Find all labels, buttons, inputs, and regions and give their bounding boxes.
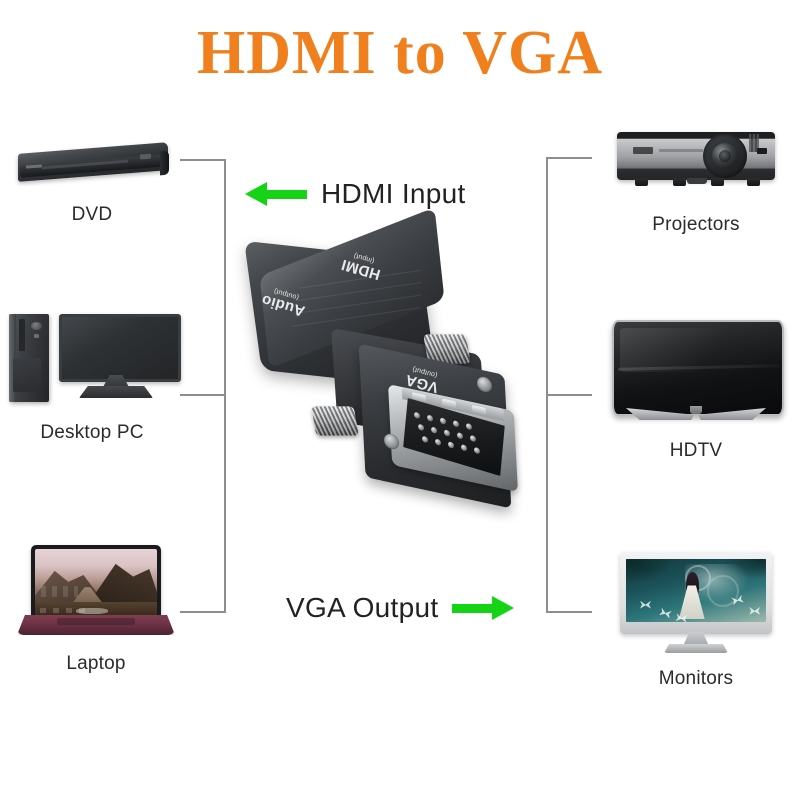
dvd-player-icon [12, 140, 172, 186]
thumbscrew-lower-icon [311, 406, 359, 436]
laptop-icon [11, 545, 181, 639]
source-label-laptop: Laptop [10, 653, 182, 675]
hdmi-input-label: HDMI Input [321, 178, 466, 210]
source-item-laptop[interactable]: Laptop [10, 545, 182, 675]
display-item-monitors[interactable]: Monitors [618, 552, 774, 690]
hdtv-icon [610, 318, 782, 426]
source-label-dvd: DVD [8, 204, 176, 226]
source-item-desktop-pc[interactable]: Desktop PC [5, 310, 179, 444]
page-title: HDMI to VGA [0, 22, 800, 84]
monitor-icon [620, 552, 772, 656]
vga-output-label: VGA Output [286, 592, 438, 624]
infographic-canvas: HDMI to VGA DVD Desktop PC [0, 0, 800, 800]
vga-output-flow: VGA Output [286, 592, 514, 624]
display-label-hdtv: HDTV [608, 440, 784, 462]
display-label-projectors: Projectors [608, 214, 784, 236]
display-label-monitors: Monitors [618, 668, 774, 690]
source-label-desktop-pc: Desktop PC [5, 422, 179, 444]
projector-icon [611, 128, 781, 194]
arrow-left-icon [245, 182, 307, 206]
hdmi-to-vga-adapter[interactable]: HDMI (input) Audio (output) VGA (output) [250, 238, 540, 528]
desktop-pc-icon [7, 310, 177, 406]
arrow-right-icon [452, 596, 514, 620]
display-item-projectors[interactable]: Projectors [608, 128, 784, 236]
display-item-hdtv[interactable]: HDTV [608, 318, 784, 462]
hdmi-input-flow: HDMI Input [245, 178, 466, 210]
source-item-dvd[interactable]: DVD [8, 140, 176, 226]
